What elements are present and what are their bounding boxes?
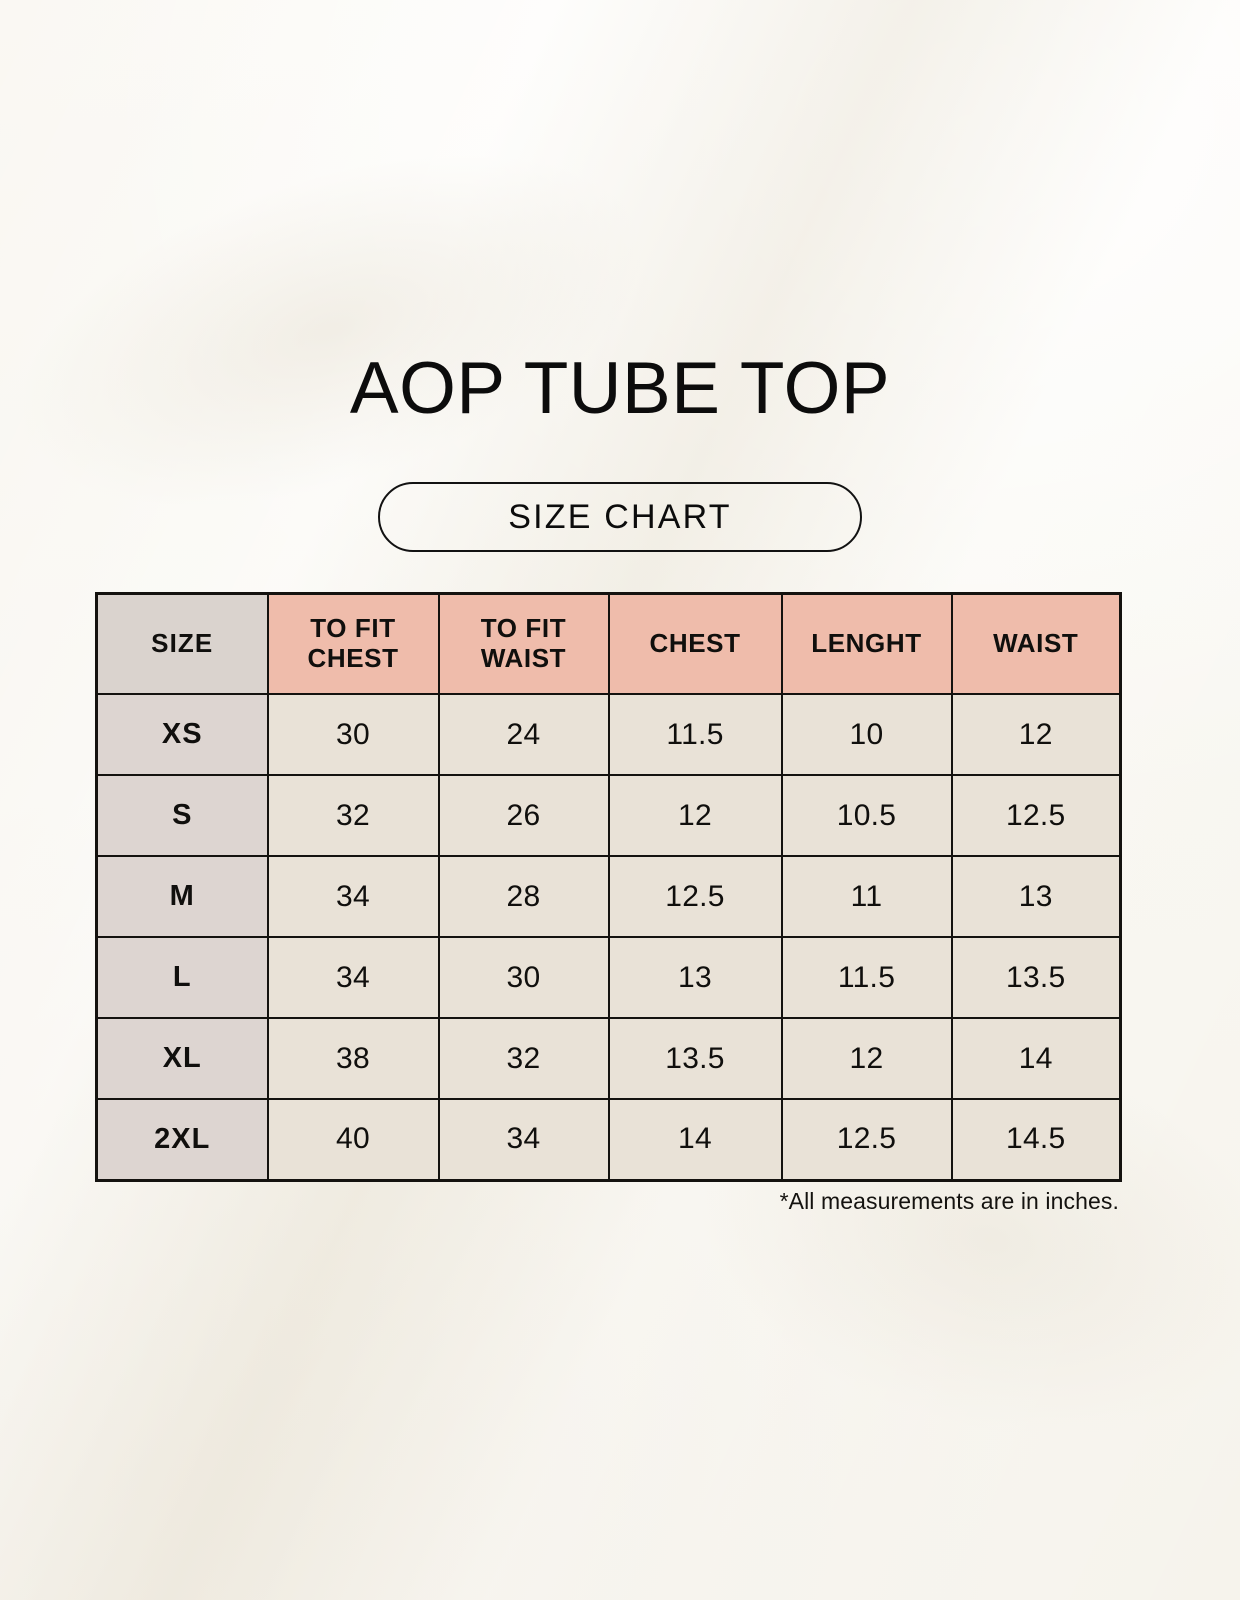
cell-to-fit-chest: 38 <box>268 1018 439 1099</box>
column-header-lenght: LENGHT <box>782 594 952 695</box>
cell-size: XS <box>97 694 268 775</box>
cell-waist: 12 <box>952 694 1121 775</box>
cell-waist: 13.5 <box>952 937 1121 1018</box>
cell-chest: 14 <box>609 1099 782 1180</box>
page-title: AOP TUBE TOP <box>0 352 1240 425</box>
cell-lenght: 12.5 <box>782 1099 952 1180</box>
table-row: S 32 26 12 10.5 12.5 <box>97 775 1121 856</box>
column-header-size: SIZE <box>97 594 268 695</box>
cell-chest: 13 <box>609 937 782 1018</box>
size-chart-badge: SIZE CHART <box>378 482 862 552</box>
cell-to-fit-waist: 30 <box>439 937 609 1018</box>
cell-waist: 14.5 <box>952 1099 1121 1180</box>
cell-to-fit-waist: 28 <box>439 856 609 937</box>
cell-to-fit-waist: 24 <box>439 694 609 775</box>
size-table-head: SIZE TO FIT CHEST TO FIT WAIST CHEST LEN <box>97 594 1121 695</box>
cell-waist: 13 <box>952 856 1121 937</box>
cell-to-fit-chest: 34 <box>268 856 439 937</box>
size-table-container: SIZE TO FIT CHEST TO FIT WAIST CHEST LEN <box>95 592 1119 1182</box>
cell-to-fit-chest: 40 <box>268 1099 439 1180</box>
size-table-body: XS 30 24 11.5 10 12 S 32 26 12 10.5 12.5… <box>97 694 1121 1180</box>
table-row: XL 38 32 13.5 12 14 <box>97 1018 1121 1099</box>
size-table: SIZE TO FIT CHEST TO FIT WAIST CHEST LEN <box>95 592 1122 1182</box>
cell-size: L <box>97 937 268 1018</box>
column-header-to-fit-waist: TO FIT WAIST <box>439 594 609 695</box>
table-row: 2XL 40 34 14 12.5 14.5 <box>97 1099 1121 1180</box>
column-header-waist-line1: WAIST <box>954 629 1119 659</box>
cell-to-fit-chest: 30 <box>268 694 439 775</box>
cell-lenght: 11 <box>782 856 952 937</box>
column-header-to-fit-chest: TO FIT CHEST <box>268 594 439 695</box>
table-row: XS 30 24 11.5 10 12 <box>97 694 1121 775</box>
column-header-to-fit-chest-line1: TO FIT <box>270 614 437 644</box>
column-header-lenght-line1: LENGHT <box>784 629 950 659</box>
cell-size: S <box>97 775 268 856</box>
cell-chest: 11.5 <box>609 694 782 775</box>
column-header-size-line1: SIZE <box>99 629 266 659</box>
cell-chest: 13.5 <box>609 1018 782 1099</box>
cell-size: M <box>97 856 268 937</box>
table-row: M 34 28 12.5 11 13 <box>97 856 1121 937</box>
cell-lenght: 10.5 <box>782 775 952 856</box>
measurement-note: *All measurements are in inches. <box>95 1188 1119 1215</box>
cell-to-fit-waist: 34 <box>439 1099 609 1180</box>
cell-lenght: 11.5 <box>782 937 952 1018</box>
cell-chest: 12 <box>609 775 782 856</box>
cell-to-fit-waist: 32 <box>439 1018 609 1099</box>
cell-lenght: 10 <box>782 694 952 775</box>
cell-lenght: 12 <box>782 1018 952 1099</box>
cell-waist: 14 <box>952 1018 1121 1099</box>
cell-size: XL <box>97 1018 268 1099</box>
cell-to-fit-waist: 26 <box>439 775 609 856</box>
table-header-row: SIZE TO FIT CHEST TO FIT WAIST CHEST LEN <box>97 594 1121 695</box>
badge-container: SIZE CHART <box>0 482 1240 552</box>
column-header-chest: CHEST <box>609 594 782 695</box>
column-header-to-fit-waist-line2: WAIST <box>441 644 607 674</box>
column-header-waist: WAIST <box>952 594 1121 695</box>
cell-size: 2XL <box>97 1099 268 1180</box>
column-header-chest-line1: CHEST <box>611 629 780 659</box>
size-chart-poster: AOP TUBE TOP SIZE CHART SIZE TO FIT <box>0 0 1240 1600</box>
cell-to-fit-chest: 32 <box>268 775 439 856</box>
column-header-to-fit-waist-line1: TO FIT <box>441 614 607 644</box>
table-row: L 34 30 13 11.5 13.5 <box>97 937 1121 1018</box>
cell-to-fit-chest: 34 <box>268 937 439 1018</box>
cell-chest: 12.5 <box>609 856 782 937</box>
column-header-to-fit-chest-line2: CHEST <box>270 644 437 674</box>
cell-waist: 12.5 <box>952 775 1121 856</box>
